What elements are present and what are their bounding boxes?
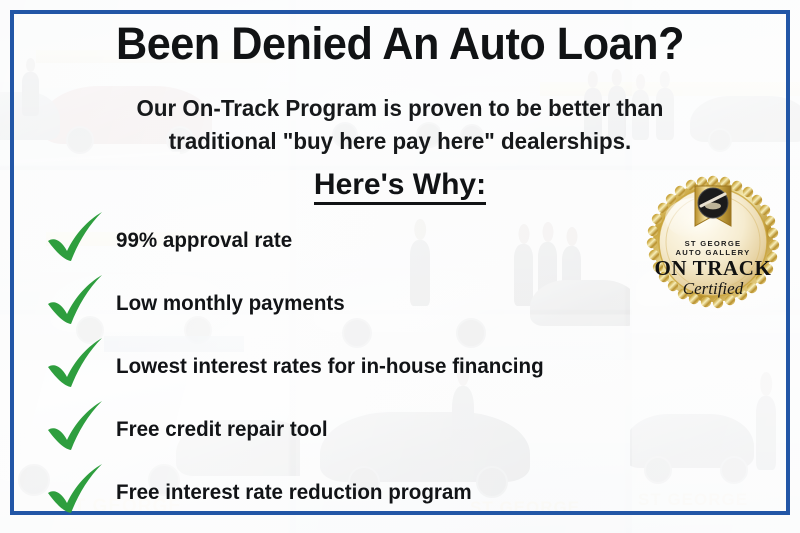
list-item-label: 99% approval rate (116, 229, 292, 253)
section-heading-text: Here's Why: (314, 168, 486, 205)
gold-certified-seal-icon: ST GEORGE AUTO GALLERY ON TRACK Certifie… (645, 170, 781, 310)
page-title: Been Denied An Auto Loan? (16, 20, 784, 67)
auto-loan-ad-banner: ST GEORGE ST GEORGE ST GEORGE Been Denie… (0, 0, 800, 533)
list-item: Lowest interest rates for in-house finan… (44, 332, 684, 395)
ad-content: Been Denied An Auto Loan? Our On-Track P… (0, 0, 800, 533)
list-item-label: Free interest rate reduction program (116, 481, 472, 505)
list-item-label: Low monthly payments (116, 292, 345, 316)
check-icon (44, 273, 106, 329)
check-icon (44, 210, 106, 266)
check-icon (44, 336, 106, 392)
seal-company-line-1: ST GEORGE (685, 239, 742, 248)
list-item: Free credit repair tool (44, 395, 684, 458)
subheadline-line-2: traditional "buy here pay here" dealersh… (70, 125, 730, 158)
benefits-list: 99% approval rate Low monthly payments L… (44, 206, 684, 521)
list-item: Free interest rate reduction program (44, 458, 684, 521)
seal-certified-text: Certified (683, 279, 744, 298)
list-item: Low monthly payments (44, 269, 684, 332)
list-item: 99% approval rate (44, 206, 684, 269)
check-icon (44, 462, 106, 518)
check-icon (44, 399, 106, 455)
subheadline: Our On-Track Program is proven to be bet… (70, 92, 730, 157)
subheadline-line-1: Our On-Track Program is proven to be bet… (70, 92, 730, 125)
seal-program-text: ON TRACK (654, 256, 771, 280)
list-item-label: Free credit repair tool (116, 418, 328, 442)
list-item-label: Lowest interest rates for in-house finan… (116, 355, 544, 379)
